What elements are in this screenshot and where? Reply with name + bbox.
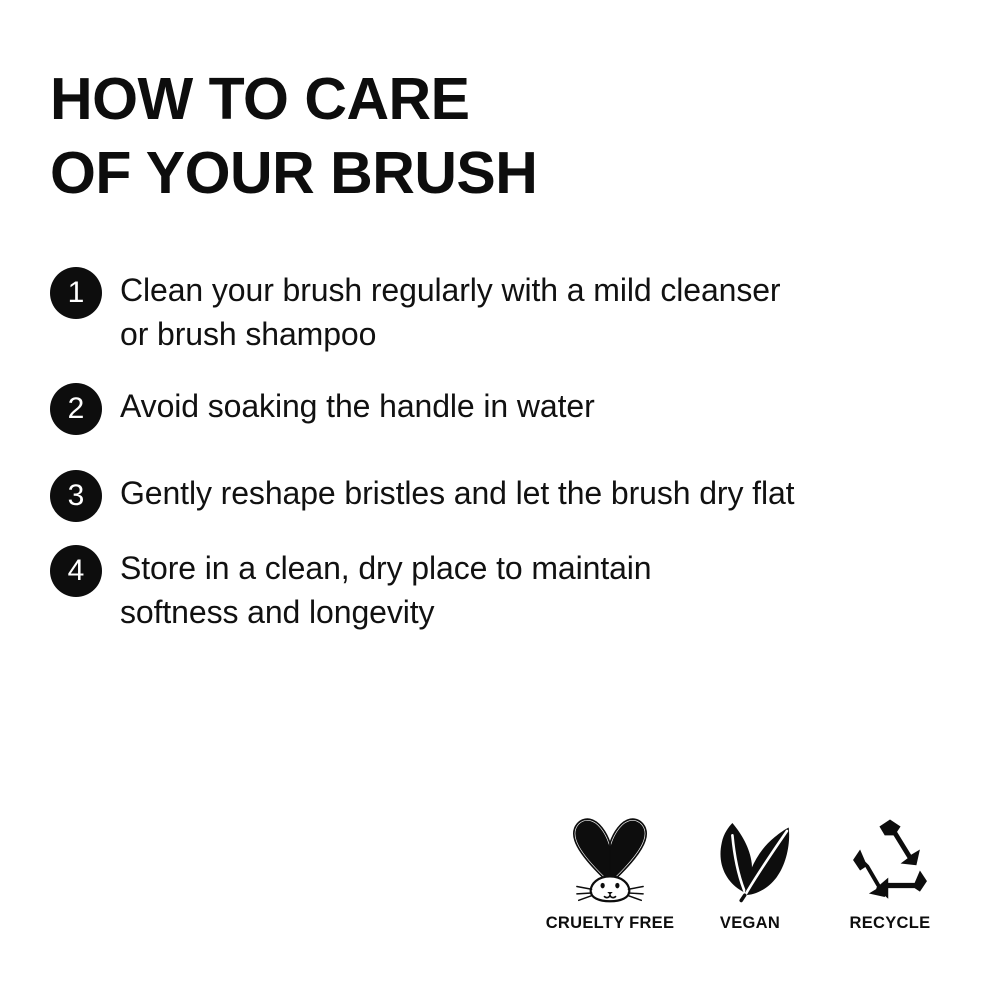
step-number-badge-2: 2	[50, 383, 102, 435]
recycle-icon	[846, 812, 934, 904]
step-text-2: Avoid soaking the handle in water	[120, 378, 950, 428]
certification-label-vegan: VEGAN	[720, 914, 780, 933]
step-text-1-line-2: or brush shampoo	[120, 312, 950, 356]
list-item: 2 Avoid soaking the handle in water	[50, 378, 950, 435]
page-title-line-2: OF YOUR BRUSH	[50, 136, 930, 210]
certification-badges: CRUELTY FREE VEGAN	[540, 812, 960, 933]
list-item: 4 Store in a clean, dry place to maintai…	[50, 540, 950, 634]
bunny-heart-icon	[564, 812, 656, 904]
step-number-badge-3: 3	[50, 470, 102, 522]
care-instructions-card: HOW TO CARE OF YOUR BRUSH 1 Clean your b…	[0, 0, 1000, 1000]
certification-recycle: RECYCLE	[820, 812, 960, 933]
certification-label-cruelty-free: CRUELTY FREE	[546, 914, 675, 933]
step-text-2-line-1: Avoid soaking the handle in water	[120, 384, 950, 428]
step-number-badge-4: 4	[50, 545, 102, 597]
step-text-1-line-1: Clean your brush regularly with a mild c…	[120, 268, 950, 312]
leaves-icon	[706, 812, 794, 904]
page-title: HOW TO CARE OF YOUR BRUSH	[50, 62, 930, 210]
step-text-3: Gently reshape bristles and let the brus…	[120, 465, 950, 515]
certification-label-recycle: RECYCLE	[850, 914, 931, 933]
list-item: 3 Gently reshape bristles and let the br…	[50, 465, 950, 522]
step-number-badge-1: 1	[50, 267, 102, 319]
certification-vegan: VEGAN	[680, 812, 820, 933]
step-text-3-line-1: Gently reshape bristles and let the brus…	[120, 471, 950, 515]
certification-cruelty-free: CRUELTY FREE	[540, 812, 680, 933]
step-text-4-line-1: Store in a clean, dry place to maintain	[120, 546, 950, 590]
care-steps-list: 1 Clean your brush regularly with a mild…	[50, 262, 950, 634]
list-item: 1 Clean your brush regularly with a mild…	[50, 262, 950, 356]
step-text-1: Clean your brush regularly with a mild c…	[120, 262, 950, 356]
step-text-4: Store in a clean, dry place to maintain …	[120, 540, 950, 634]
page-title-line-1: HOW TO CARE	[50, 62, 930, 136]
step-text-4-line-2: softness and longevity	[120, 590, 950, 634]
